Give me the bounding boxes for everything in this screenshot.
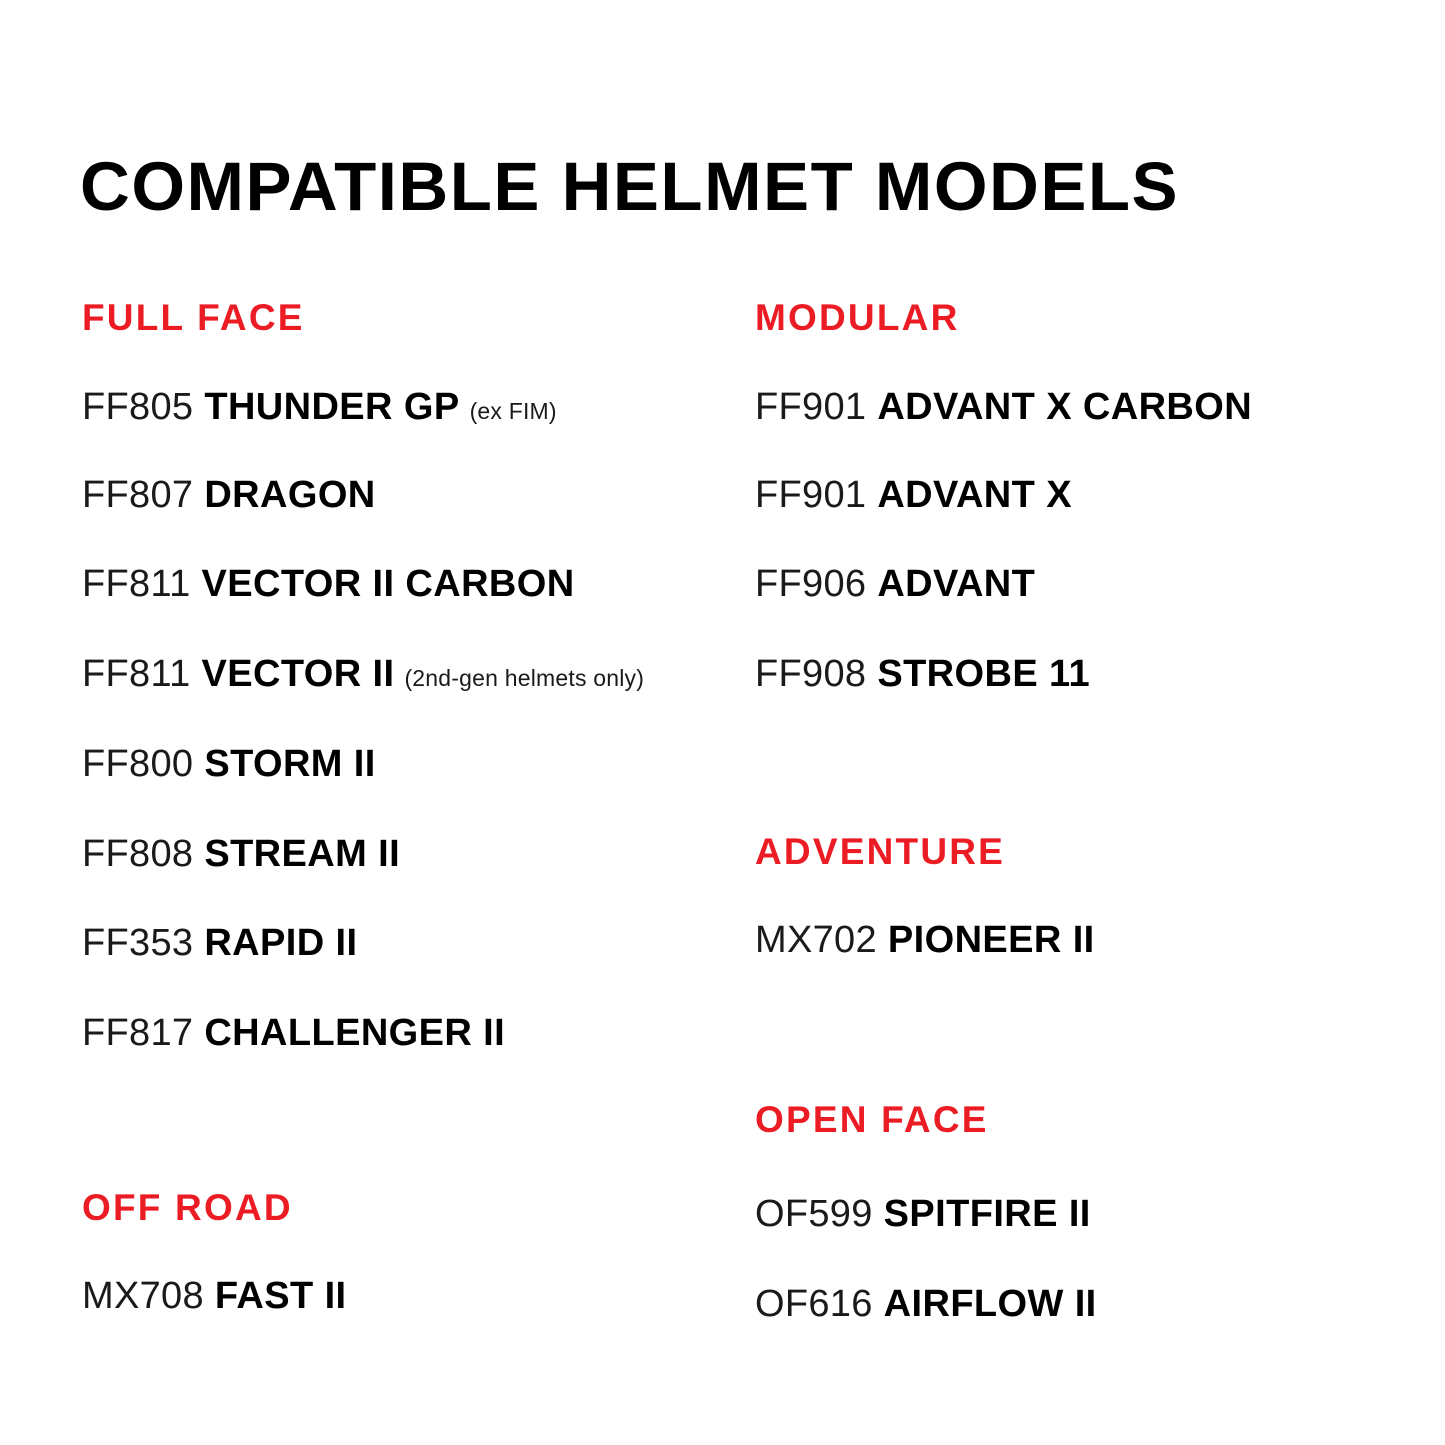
section-heading-off-road: OFF ROAD xyxy=(82,1189,293,1226)
model-row: MX708FAST II xyxy=(82,1277,347,1315)
section-heading-full-face: FULL FACE xyxy=(82,299,305,336)
model-name: VECTOR II CARBON xyxy=(202,563,575,605)
model-code: FF811 xyxy=(82,563,191,605)
model-row: FF807DRAGON xyxy=(82,476,376,514)
model-code: FF908 xyxy=(755,653,866,695)
model-code: FF901 xyxy=(755,386,866,428)
model-name: SPITFIRE II xyxy=(884,1193,1091,1235)
model-name: ADVANT xyxy=(877,563,1035,605)
model-row: FF811VECTOR II(2nd-gen helmets only) xyxy=(82,655,644,693)
model-name: PIONEER II xyxy=(888,919,1095,961)
model-name: VECTOR II xyxy=(202,653,395,695)
model-row: OF616AIRFLOW II xyxy=(755,1285,1097,1323)
model-name: DRAGON xyxy=(204,474,375,516)
model-code: MX708 xyxy=(82,1275,204,1317)
model-row: FF908STROBE 11 xyxy=(755,655,1090,693)
model-code: FF901 xyxy=(755,474,866,516)
model-row: MX702PIONEER II xyxy=(755,921,1095,959)
page-title: COMPATIBLE HELMET MODELS xyxy=(80,152,1179,221)
poster-canvas: COMPATIBLE HELMET MODELS FULL FACEFF805T… xyxy=(0,0,1445,1445)
model-row: OF599SPITFIRE II xyxy=(755,1195,1091,1233)
model-note: (2nd-gen helmets only) xyxy=(404,665,644,691)
model-name: FAST II xyxy=(215,1275,347,1317)
model-row: FF817CHALLENGER II xyxy=(82,1014,505,1052)
model-code: FF808 xyxy=(82,833,193,875)
model-name: THUNDER GP xyxy=(204,386,459,428)
model-code: FF807 xyxy=(82,474,193,516)
section-heading-adventure: ADVENTURE xyxy=(755,833,1005,870)
model-code: FF800 xyxy=(82,743,193,785)
model-row: FF811VECTOR II CARBON xyxy=(82,565,575,603)
model-row: FF805THUNDER GP(ex FIM) xyxy=(82,388,557,426)
model-row: FF353RAPID II xyxy=(82,924,357,962)
model-name: STROBE 11 xyxy=(877,653,1090,695)
model-name: RAPID II xyxy=(204,922,357,964)
model-code: FF811 xyxy=(82,653,191,695)
model-name: STORM II xyxy=(204,743,375,785)
model-code: FF906 xyxy=(755,563,866,605)
model-row: FF906ADVANT xyxy=(755,565,1035,603)
model-row: FF901ADVANT X xyxy=(755,476,1072,514)
model-name: STREAM II xyxy=(204,833,400,875)
model-row: FF901ADVANT X CARBON xyxy=(755,388,1252,426)
model-name: CHALLENGER II xyxy=(204,1012,505,1054)
model-row: FF808STREAM II xyxy=(82,835,400,873)
section-heading-open-face: OPEN FACE xyxy=(755,1101,989,1138)
model-code: FF353 xyxy=(82,922,193,964)
model-note: (ex FIM) xyxy=(470,398,557,424)
model-name: ADVANT X CARBON xyxy=(877,386,1252,428)
model-code: OF599 xyxy=(755,1193,873,1235)
section-heading-modular: MODULAR xyxy=(755,299,959,336)
model-code: FF817 xyxy=(82,1012,193,1054)
model-code: OF616 xyxy=(755,1283,873,1325)
model-row: FF800STORM II xyxy=(82,745,376,783)
model-code: MX702 xyxy=(755,919,877,961)
model-name: AIRFLOW II xyxy=(884,1283,1097,1325)
model-code: FF805 xyxy=(82,386,193,428)
model-name: ADVANT X xyxy=(877,474,1072,516)
